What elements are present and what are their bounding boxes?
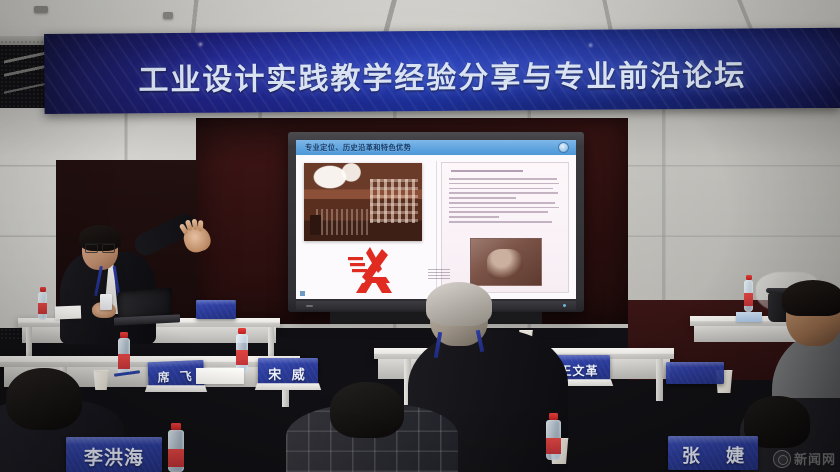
slide-page-marker: [300, 291, 305, 296]
bottle-label: [546, 438, 561, 454]
news-site-seal-icon: [773, 450, 791, 468]
conference-photo: 工业设计实践教学经验分享与专业前沿论坛 专业定位、历史沿革和特色优势: [0, 0, 840, 472]
attendee-head: [330, 382, 404, 438]
page-heading-line: [451, 170, 523, 172]
page-inset-photo: [470, 238, 542, 286]
red-emblem-icon: [348, 243, 396, 295]
table-leg: [268, 327, 274, 357]
bottle-label: [236, 350, 248, 365]
display-button-icon[interactable]: [306, 305, 313, 307]
watermark-text: 新闻网: [794, 449, 836, 468]
nameplate-name: 张 婕: [672, 442, 754, 468]
water-bottle-icon: [38, 292, 47, 320]
photo-lowrise: [316, 209, 368, 235]
slide-title-bar: 专业定位、历史沿革和特色优势: [296, 140, 576, 155]
water-bottle-icon: [236, 334, 248, 372]
papers-on-table: [55, 306, 81, 320]
attendee-head: [6, 368, 82, 430]
attendee-hair: [782, 280, 840, 316]
banner-glint: [589, 44, 592, 47]
scanned-textbook-page: [441, 162, 569, 293]
water-bottle-icon: [546, 420, 561, 460]
nameplate-songwei: 宋 威: [258, 358, 318, 385]
photo-gate: [310, 215, 321, 235]
id-badge: [100, 294, 112, 310]
nameplate-header-band: [666, 362, 724, 367]
nameplate-lihonghai: 李洪海: [66, 437, 162, 472]
bottle-cap: [171, 423, 181, 430]
photo-building: [370, 179, 418, 223]
nameplate-name: 宋 威: [268, 364, 308, 383]
event-banner: 工业设计实践教学经验分享与专业前沿论坛: [44, 28, 840, 114]
glasses-icon: [85, 243, 115, 250]
bottle-cap: [746, 275, 752, 280]
bottle-label: [744, 293, 753, 306]
water-bottle-icon: [744, 280, 753, 312]
nameplate-base: [145, 385, 207, 392]
nameplate-name: 席 飞: [157, 367, 195, 386]
notebook: [196, 368, 244, 384]
tissue-box: [736, 312, 762, 322]
bottle-cap: [549, 413, 558, 420]
nameplate-base: [255, 383, 321, 390]
nameplate-name: 李洪海: [84, 443, 144, 470]
projection-display: 专业定位、历史沿革和特色优势: [288, 132, 584, 312]
bottle-cap: [120, 332, 128, 338]
ceiling-fixture-icon: [163, 12, 173, 19]
banner-title: 工业设计实践教学经验分享与专业前沿论坛: [44, 50, 840, 100]
slide-body: [296, 155, 576, 299]
water-bottle-icon: [168, 430, 184, 472]
bottle-label: [38, 303, 47, 314]
bottle-cap: [238, 328, 246, 334]
watermark: 新闻网: [773, 449, 836, 468]
nameplate-zhangjie: 张 婕: [668, 436, 758, 470]
display-screen: 专业定位、历史沿革和特色优势: [296, 140, 576, 299]
table-leg: [656, 359, 663, 401]
ceiling-fixture-icon: [34, 6, 48, 13]
water-bottle-icon: [118, 338, 130, 376]
bottle-cap: [40, 287, 46, 292]
banner-glint: [199, 43, 202, 46]
bottle-label: [118, 354, 130, 369]
attendee-gray-hair: [426, 282, 492, 326]
nameplate: [196, 300, 236, 319]
nameplate-partial: [666, 362, 724, 384]
page-body-lines: [449, 178, 561, 226]
bottle-label: [168, 449, 184, 467]
nameplate-header-band: [196, 300, 236, 305]
slide-caption-text: [428, 269, 450, 281]
slide-title: 专业定位、历史沿革和特色优势: [296, 143, 411, 153]
university-seal-icon: [558, 142, 569, 153]
display-power-led-icon: [563, 304, 566, 307]
paper-cup-icon: [92, 370, 110, 390]
historical-campus-photo: [304, 163, 422, 241]
